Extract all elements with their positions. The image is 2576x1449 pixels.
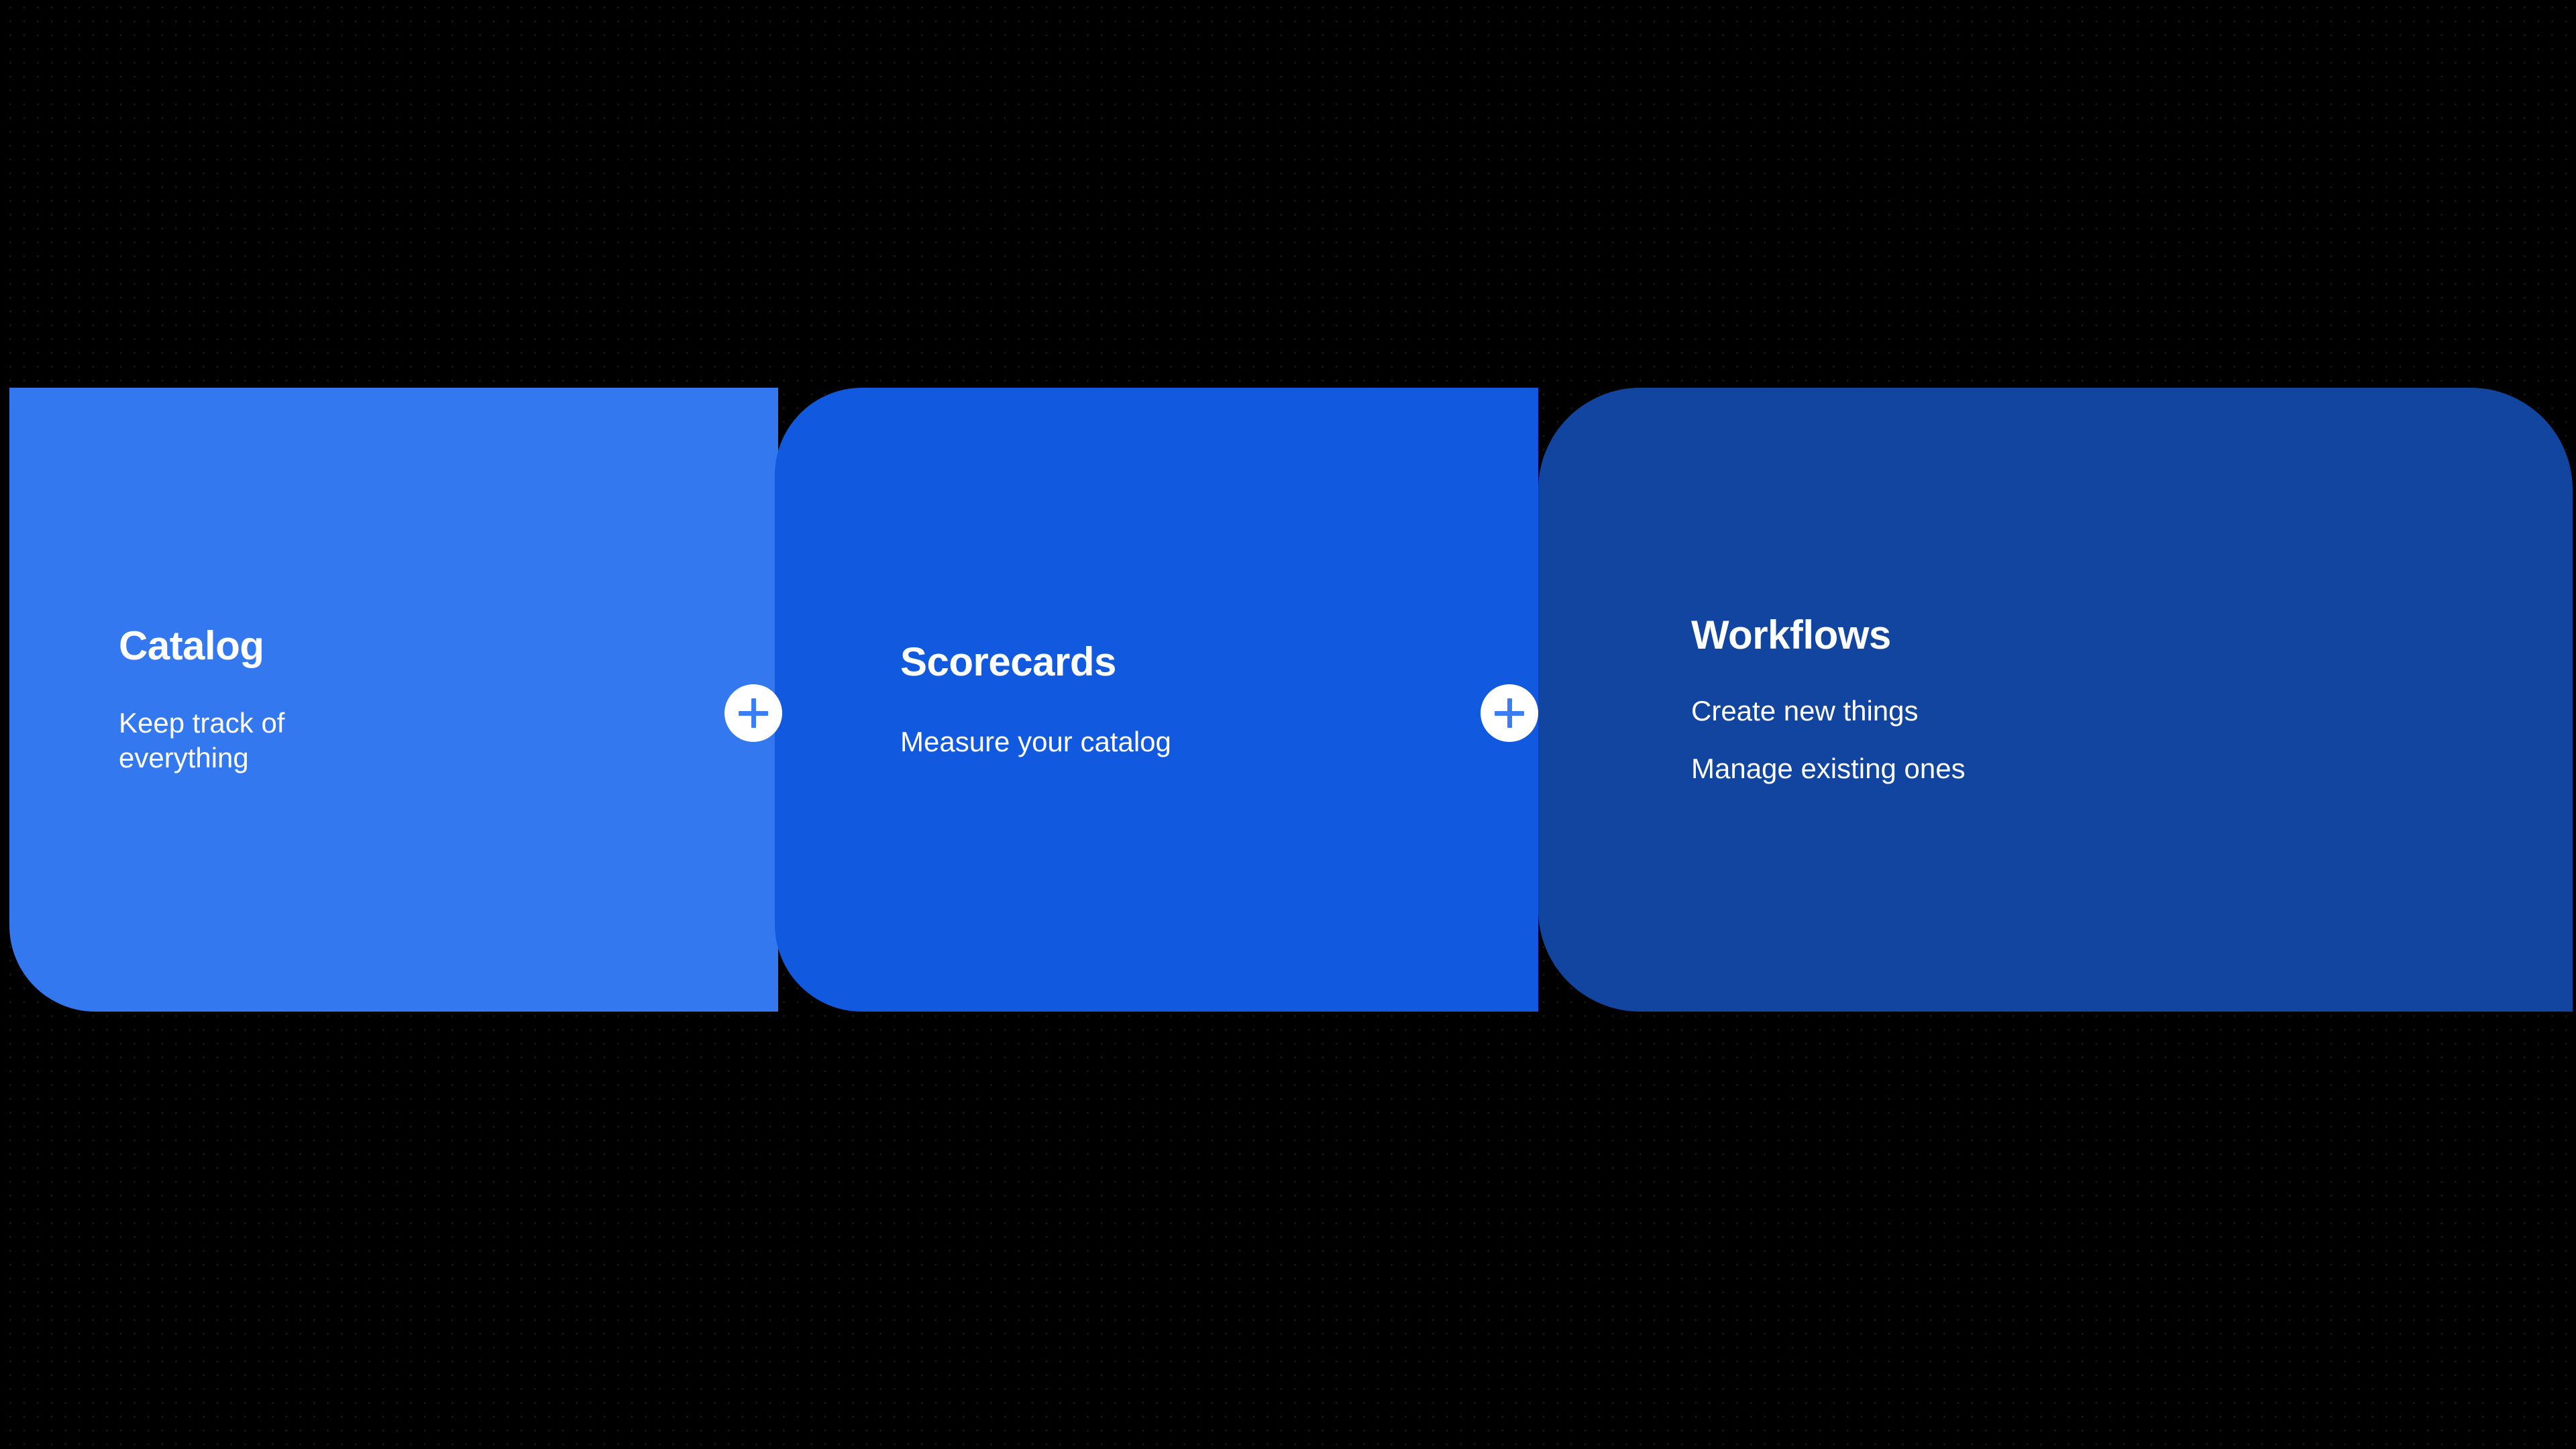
card-catalog-title: Catalog bbox=[119, 625, 888, 667]
card-catalog-line-2: everything bbox=[119, 741, 434, 775]
plus-icon bbox=[1495, 698, 1524, 728]
card-band: Catalog Keep track of everything Scoreca… bbox=[0, 388, 2576, 1012]
diagram-canvas: Catalog Keep track of everything Scoreca… bbox=[0, 0, 2576, 1449]
card-workflows[interactable]: Workflows Create new things Manage exist… bbox=[1538, 388, 2573, 1012]
card-workflows-title: Workflows bbox=[1691, 614, 2576, 656]
card-scorecards[interactable]: Scorecards Measure your catalog bbox=[775, 388, 1538, 1012]
plus-icon bbox=[739, 698, 768, 728]
card-workflows-lines: Create new things Manage existing ones bbox=[1691, 694, 2576, 785]
card-workflows-line-1: Create new things bbox=[1691, 694, 2576, 728]
plus-connector-1 bbox=[724, 684, 782, 742]
card-workflows-line-2: Manage existing ones bbox=[1691, 751, 2576, 786]
card-catalog[interactable]: Catalog Keep track of everything bbox=[9, 388, 778, 1012]
card-catalog-line-1: Keep track of bbox=[119, 706, 434, 740]
plus-connector-2 bbox=[1481, 684, 1538, 742]
card-workflows-content: Workflows Create new things Manage exist… bbox=[1538, 388, 2576, 1012]
